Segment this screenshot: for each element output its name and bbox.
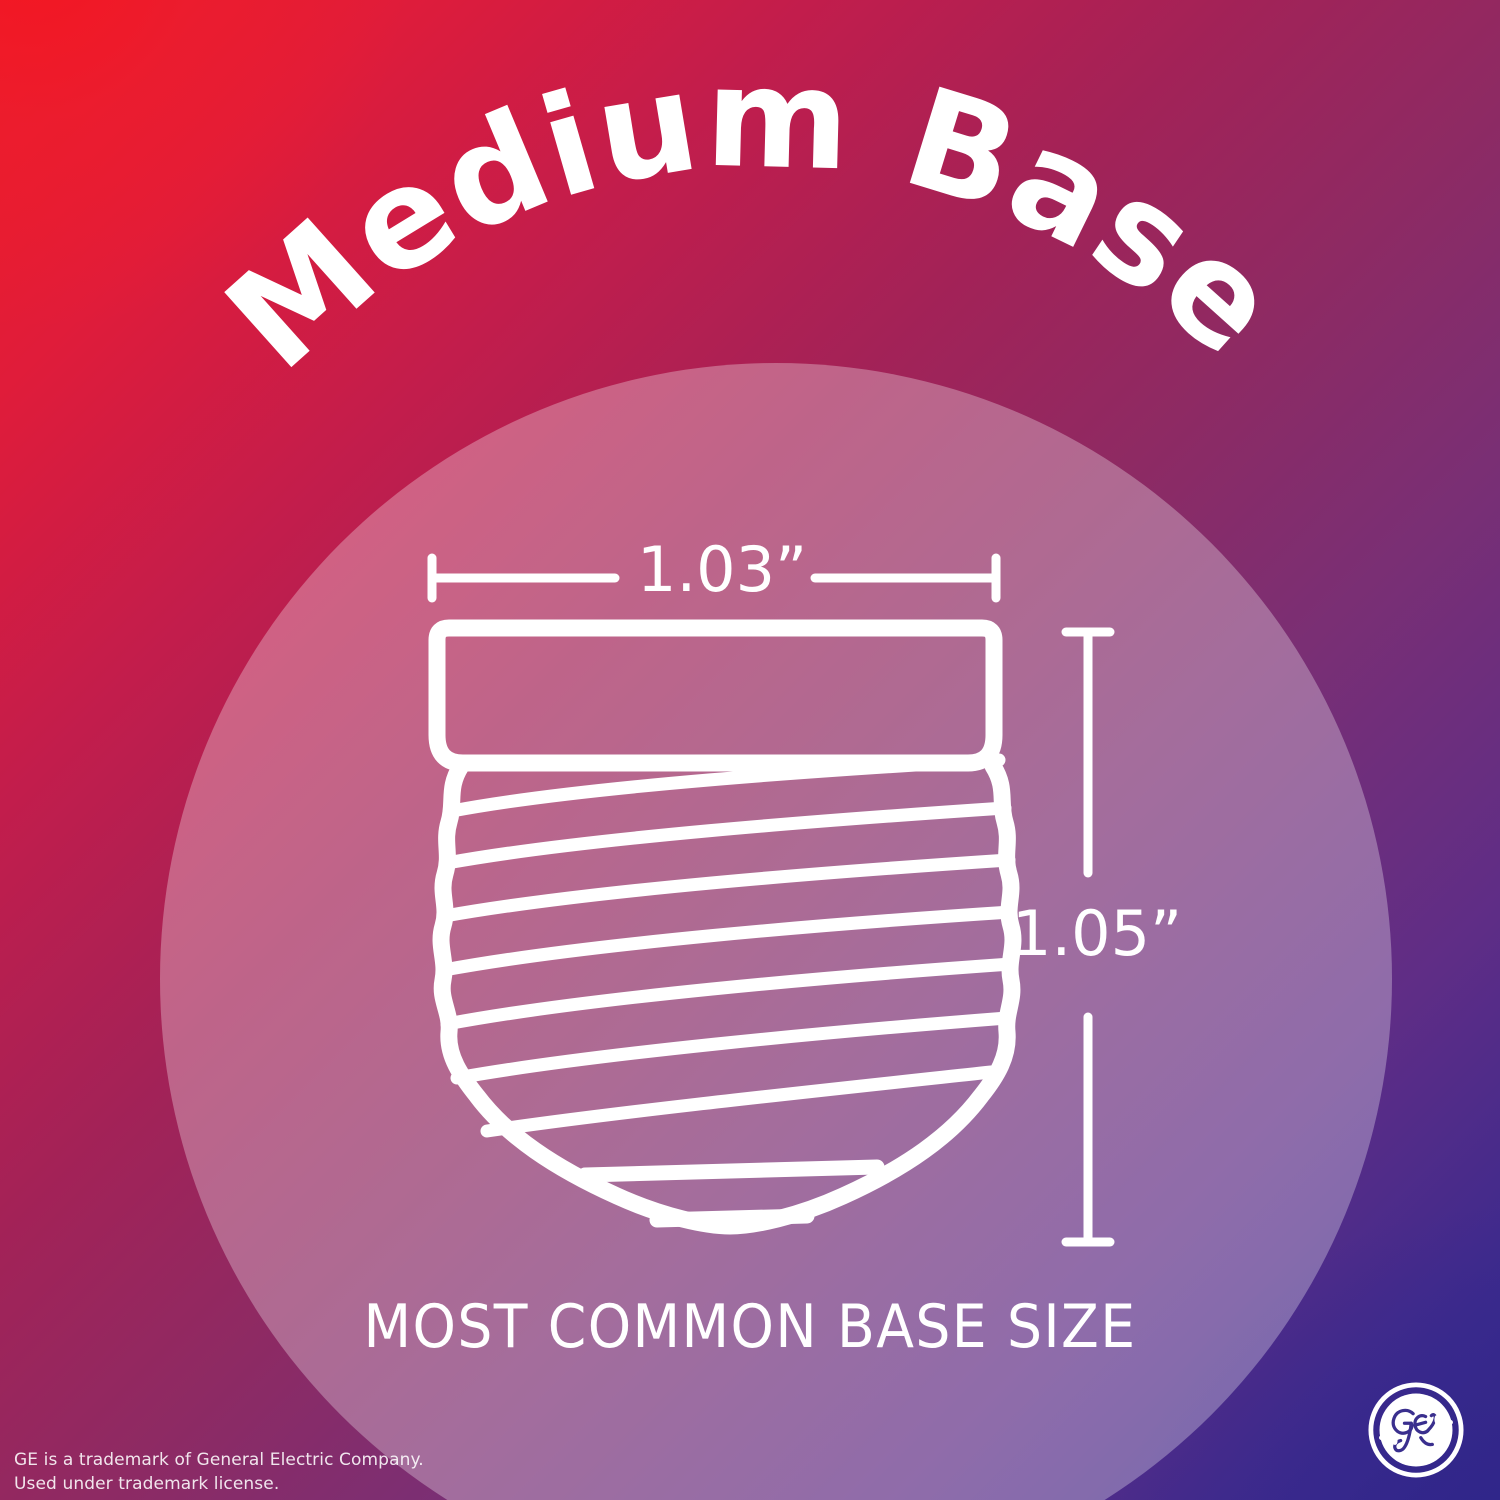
bulb-base-illustration [395,520,1115,1260]
product-infographic: Medium Base 1.03” [0,0,1500,1500]
legal-line-2: Used under trademark license. [14,1472,424,1496]
thread-lines [444,760,1011,1131]
base-collar [437,628,994,763]
base-foot-contact [585,1167,877,1175]
legal-trademark-text: GE is a trademark of General Electric Co… [14,1448,424,1496]
height-dimension-label: 1.05” [1012,897,1182,970]
width-dimension-label: 1.03” [637,533,807,606]
base-tip-line [657,1216,807,1220]
caption-text: MOST COMMON BASE SIZE [60,1292,1440,1362]
legal-line-1: GE is a trademark of General Electric Co… [14,1448,424,1472]
ge-logo-icon [1368,1382,1464,1478]
